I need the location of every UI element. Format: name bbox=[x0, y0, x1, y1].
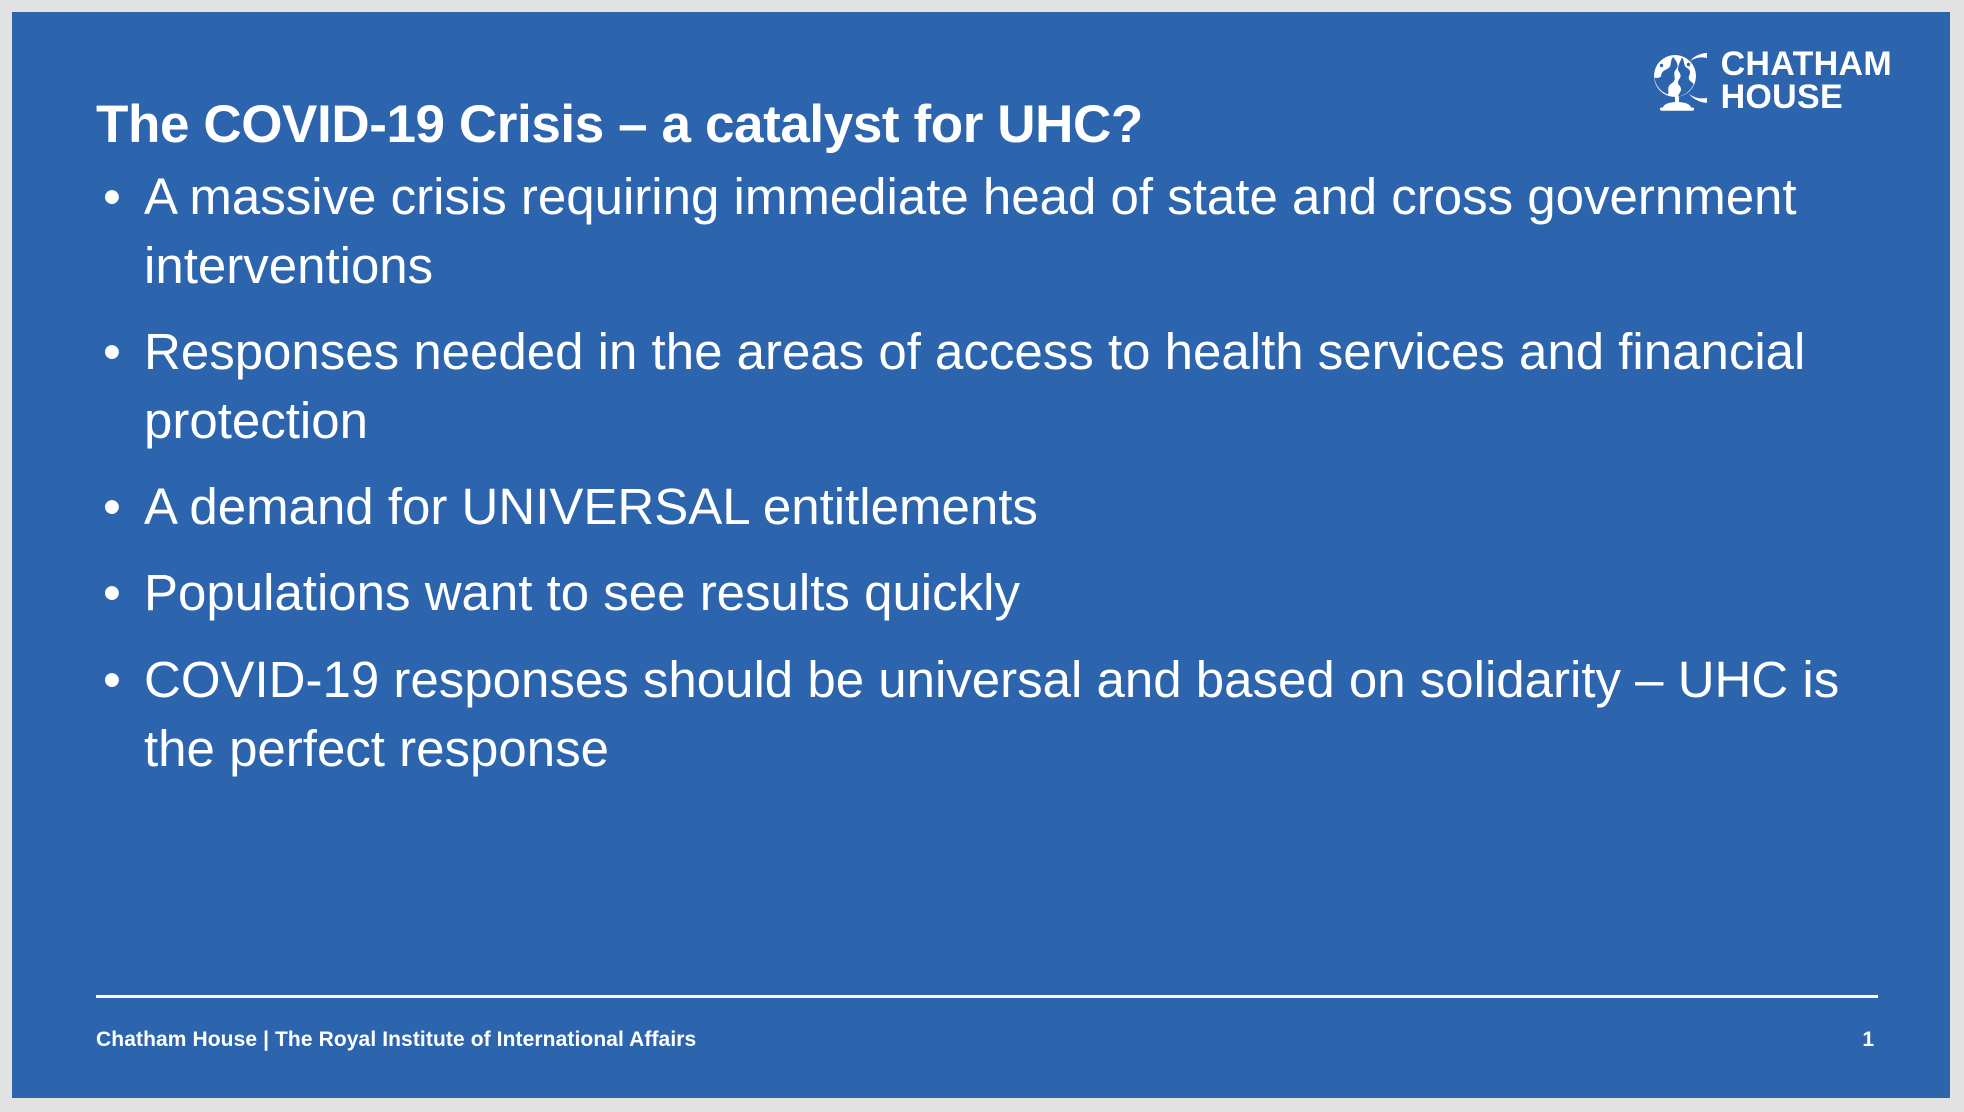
list-item: • A demand for UNIVERSAL entitlements bbox=[92, 472, 1892, 541]
bullet-text: Populations want to see results quickly bbox=[144, 558, 1892, 627]
bullet-text: A massive crisis requiring immediate hea… bbox=[144, 162, 1892, 300]
footer-divider bbox=[96, 995, 1878, 998]
bullet-marker-icon: • bbox=[103, 558, 121, 627]
list-item: • Populations want to see results quickl… bbox=[92, 558, 1892, 627]
bullet-text: A demand for UNIVERSAL entitlements bbox=[144, 472, 1892, 541]
footer-attribution: Chatham House | The Royal Institute of I… bbox=[96, 1028, 696, 1052]
logo-line-2: HOUSE bbox=[1721, 81, 1892, 114]
chatham-house-logo: CHATHAM HOUSE bbox=[1649, 48, 1892, 115]
list-item: • COVID-19 responses should be universal… bbox=[92, 645, 1892, 783]
list-item: • A massive crisis requiring immediate h… bbox=[92, 162, 1892, 300]
bullet-text: COVID-19 responses should be universal a… bbox=[144, 645, 1892, 783]
logo-wordmark: CHATHAM HOUSE bbox=[1721, 48, 1892, 115]
bullet-marker-icon: • bbox=[103, 472, 121, 541]
logo-line-1: CHATHAM bbox=[1721, 48, 1892, 81]
bullet-marker-icon: • bbox=[103, 317, 121, 386]
slide-frame: CHATHAM HOUSE The COVID-19 Crisis – a ca… bbox=[0, 0, 1964, 1112]
list-item: • Responses needed in the areas of acces… bbox=[92, 317, 1892, 455]
chatham-house-globe-icon bbox=[1649, 50, 1707, 112]
bullet-marker-icon: • bbox=[103, 645, 121, 714]
page-number: 1 bbox=[1862, 1028, 1874, 1052]
bullet-text: Responses needed in the areas of access … bbox=[144, 317, 1892, 455]
bullet-marker-icon: • bbox=[103, 162, 121, 231]
bullet-list: • A massive crisis requiring immediate h… bbox=[92, 162, 1892, 800]
presentation-slide: CHATHAM HOUSE The COVID-19 Crisis – a ca… bbox=[12, 12, 1950, 1098]
slide-title: The COVID-19 Crisis – a catalyst for UHC… bbox=[96, 96, 1426, 154]
